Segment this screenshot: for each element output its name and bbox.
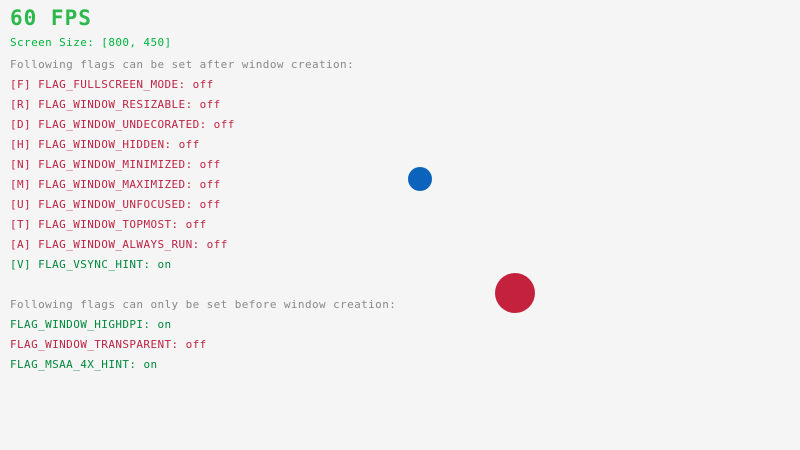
flag-row[interactable]: FLAG_WINDOW_HIGHDPI: on	[10, 318, 172, 331]
flag-value: on	[157, 318, 171, 331]
screen-size-label: Screen Size: [800, 450]	[10, 36, 172, 49]
flag-label: FLAG_WINDOW_TRANSPARENT:	[10, 338, 186, 351]
flag-value: off	[186, 218, 207, 231]
flag-key: [N]	[10, 158, 31, 171]
flag-key: [M]	[10, 178, 31, 191]
flag-row[interactable]: [M] FLAG_WINDOW_MAXIMIZED: off	[10, 178, 221, 191]
flag-value: off	[200, 198, 221, 211]
flag-key: [H]	[10, 138, 31, 151]
flag-row[interactable]: [R] FLAG_WINDOW_RESIZABLE: off	[10, 98, 221, 111]
flag-label: FLAG_WINDOW_UNDECORATED:	[31, 118, 214, 131]
flag-label: FLAG_WINDOW_UNFOCUSED:	[31, 198, 200, 211]
flag-key: [D]	[10, 118, 31, 131]
red-ball	[495, 273, 535, 313]
blue-ball	[408, 167, 432, 191]
flag-label: FLAG_WINDOW_TOPMOST:	[31, 218, 186, 231]
flag-row[interactable]: [T] FLAG_WINDOW_TOPMOST: off	[10, 218, 207, 231]
flag-key: [A]	[10, 238, 31, 251]
flag-key: [R]	[10, 98, 31, 111]
flag-label: FLAG_WINDOW_RESIZABLE:	[31, 98, 200, 111]
flag-value: off	[193, 78, 214, 91]
flag-value: off	[200, 98, 221, 111]
section-header-before-creation: Following flags can only be set before w…	[10, 298, 396, 311]
flag-row[interactable]: FLAG_MSAA_4X_HINT: on	[10, 358, 157, 371]
flag-label: FLAG_WINDOW_ALWAYS_RUN:	[31, 238, 207, 251]
flag-row[interactable]: FLAG_WINDOW_TRANSPARENT: off	[10, 338, 207, 351]
flag-row[interactable]: [F] FLAG_FULLSCREEN_MODE: off	[10, 78, 214, 91]
flag-value: off	[207, 238, 228, 251]
flag-label: FLAG_WINDOW_HIGHDPI:	[10, 318, 157, 331]
flag-key: [T]	[10, 218, 31, 231]
flag-value: on	[157, 258, 171, 271]
flag-row[interactable]: [N] FLAG_WINDOW_MINIMIZED: off	[10, 158, 221, 171]
flag-key: [U]	[10, 198, 31, 211]
flag-key: [V]	[10, 258, 31, 271]
flag-label: FLAG_FULLSCREEN_MODE:	[31, 78, 193, 91]
flag-value: on	[143, 358, 157, 371]
fps-counter: 60 FPS	[10, 6, 92, 30]
flag-value: off	[200, 178, 221, 191]
flag-row[interactable]: [A] FLAG_WINDOW_ALWAYS_RUN: off	[10, 238, 228, 251]
flag-label: FLAG_WINDOW_MINIMIZED:	[31, 158, 200, 171]
flag-value: off	[179, 138, 200, 151]
flag-row[interactable]: [U] FLAG_WINDOW_UNFOCUSED: off	[10, 198, 221, 211]
flag-label: FLAG_VSYNC_HINT:	[31, 258, 157, 271]
flag-row[interactable]: [V] FLAG_VSYNC_HINT: on	[10, 258, 172, 271]
flag-label: FLAG_WINDOW_HIDDEN:	[31, 138, 178, 151]
flag-label: FLAG_WINDOW_MAXIMIZED:	[31, 178, 200, 191]
flag-value: off	[186, 338, 207, 351]
section-header-after-creation: Following flags can be set after window …	[10, 58, 354, 71]
flag-value: off	[200, 158, 221, 171]
raylib-window: 60 FPS Screen Size: [800, 450] Following…	[0, 0, 800, 450]
flag-row[interactable]: [D] FLAG_WINDOW_UNDECORATED: off	[10, 118, 235, 131]
flag-row[interactable]: [H] FLAG_WINDOW_HIDDEN: off	[10, 138, 200, 151]
flag-key: [F]	[10, 78, 31, 91]
flag-value: off	[214, 118, 235, 131]
flag-label: FLAG_MSAA_4X_HINT:	[10, 358, 143, 371]
